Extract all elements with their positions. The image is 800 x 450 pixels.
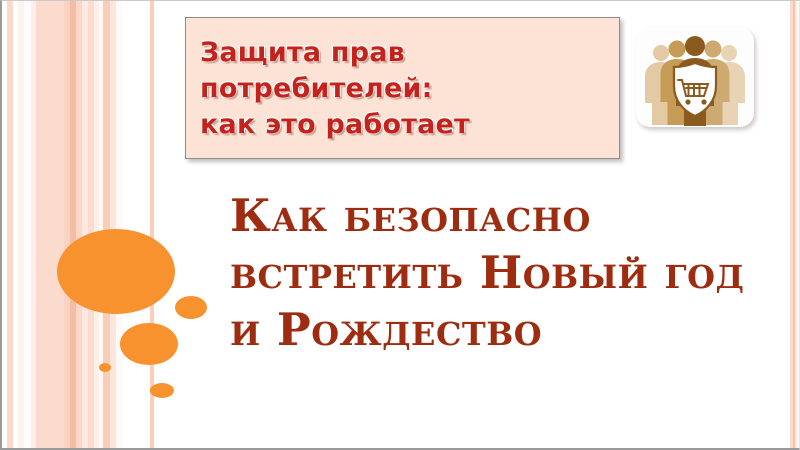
orange-ellipse-large <box>57 229 175 314</box>
orange-ellipse-medium <box>120 323 178 365</box>
left-stripe-decoration <box>2 1 182 450</box>
header-banner: Защита прав потребителей: как это работа… <box>185 17 620 159</box>
header-banner-title: Защита прав потребителей: как это работа… <box>186 18 619 143</box>
orange-ellipse-right <box>175 296 207 319</box>
right-stripe-decoration <box>789 1 797 450</box>
presentation-slide: Защита прав потребителей: как это работа… <box>0 0 800 450</box>
consumer-rights-logo-icon <box>636 27 754 127</box>
slide-main-title: Как безопасно встретить Новый год и Рожд… <box>230 187 770 358</box>
orange-ellipse-tiny <box>150 383 174 398</box>
consumer-rights-logo <box>636 27 754 127</box>
orange-ellipse-small <box>99 363 111 372</box>
